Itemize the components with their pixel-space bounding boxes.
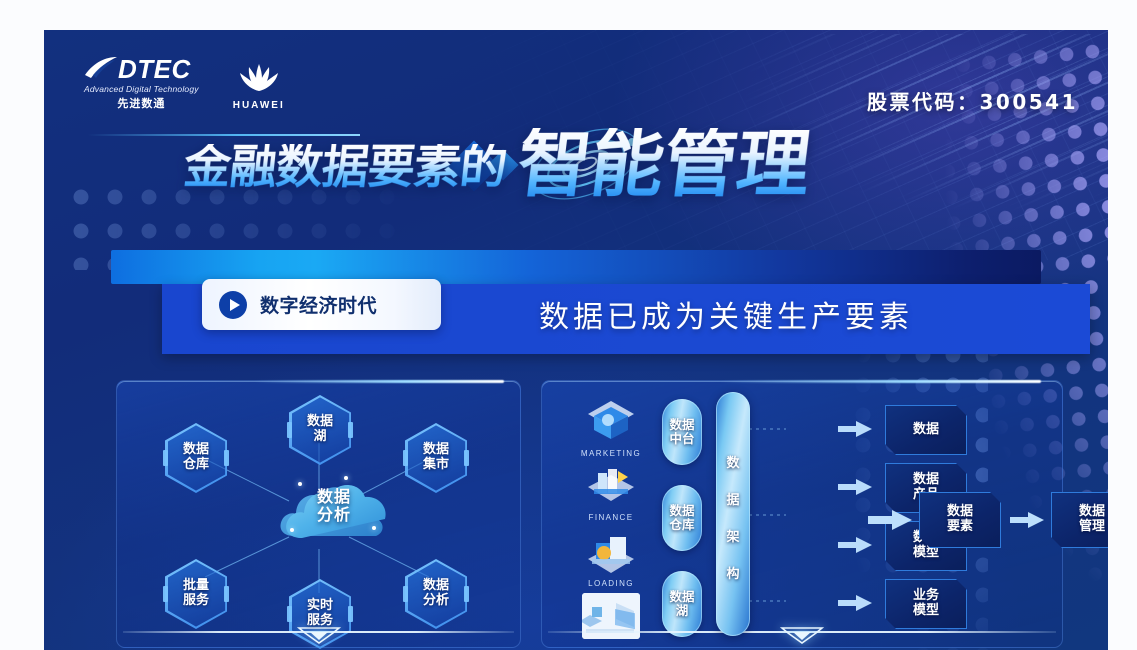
output-box-business-model[interactable]: 业务模型 [885, 579, 967, 629]
arrow-to-data [838, 419, 872, 439]
chevron-down-icon [297, 627, 341, 644]
huawei-flower-icon [234, 62, 284, 92]
arch-char-4: 构 [726, 563, 739, 582]
dtec-swoosh-icon [84, 56, 118, 82]
presentation-slide: DTEC Advanced Digital Technology 先进数通 HU… [44, 30, 1108, 650]
section-tag-label: 数字经济时代 [260, 291, 377, 318]
huawei-wordmark: HUAWEI [233, 100, 285, 111]
arch-char-1: 数 [726, 452, 739, 471]
screenshot-root: DTEC Advanced Digital Technology 先进数通 HU… [0, 0, 1137, 650]
node-data-lake[interactable]: 数据湖 [289, 395, 351, 465]
center-cloud-node[interactable]: 数据分析 [276, 470, 392, 548]
section-tag-pill[interactable]: 数字经济时代 [202, 279, 441, 330]
arrow-to-business-model [838, 593, 872, 613]
play-triangle-icon [219, 291, 247, 319]
banner-headline: 数据已成为关键生产要素 [539, 292, 913, 336]
arch-char-3: 架 [726, 526, 739, 545]
huawei-logo: HUAWEI [233, 62, 285, 111]
data-element-box[interactable]: 数据要素 [919, 492, 1001, 548]
stock-code-label: 股票代码：300541 [867, 86, 1078, 115]
chevron-down-icon [780, 627, 824, 644]
arch-char-2: 据 [726, 489, 739, 508]
node-data-analysis[interactable]: 数据分析 [405, 559, 467, 629]
title-part-two: 智能管理 [514, 128, 815, 201]
node-batch-service[interactable]: 批量服务 [165, 559, 227, 629]
dtec-wordmark: DTEC [118, 56, 191, 82]
page-title: 金融数据要素的 智能管理 [184, 134, 810, 201]
arrow-to-data-management [1010, 510, 1044, 530]
node-data-mart[interactable]: 数据集市 [405, 423, 467, 493]
node-data-warehouse[interactable]: 数据仓库 [165, 423, 227, 493]
dtec-chinese-name: 先进数通 [84, 95, 199, 111]
right-panel-footer-chevron [542, 623, 1062, 645]
output-box-data[interactable]: 数据 [885, 405, 967, 455]
cloud-label: 数据分析 [276, 488, 392, 524]
arrow-to-data-model [838, 535, 872, 555]
dtec-tagline: Advanced Digital Technology [84, 84, 199, 94]
arrow-to-data-product [838, 477, 872, 497]
logo-bar: DTEC Advanced Digital Technology 先进数通 HU… [84, 56, 285, 111]
title-part-one: 金融数据要素的 [182, 144, 509, 191]
arrow-to-data-element [868, 508, 912, 532]
architecture-capsule[interactable]: 数 据 架 构 [716, 392, 750, 636]
data-management-box[interactable]: 数据管理 [1051, 492, 1108, 548]
dtec-logo: DTEC Advanced Digital Technology 先进数通 [84, 56, 199, 111]
dtec-logo-mark: DTEC [84, 56, 199, 82]
